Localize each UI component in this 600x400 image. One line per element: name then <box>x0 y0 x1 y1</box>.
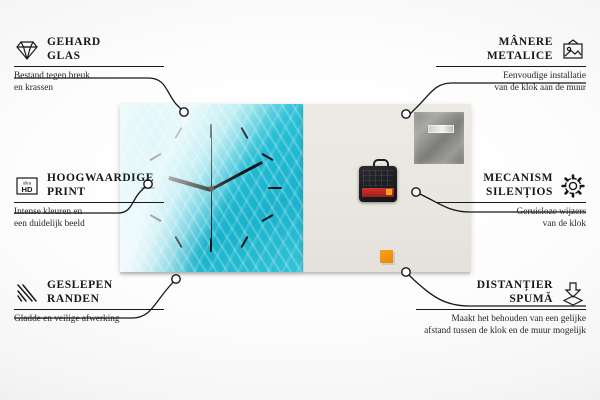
second-hand <box>211 128 212 246</box>
minute-hand <box>210 161 263 191</box>
feature-header: DISTANȚIER SPUMĂ <box>416 279 586 306</box>
feature-gehard-glas: GEHARD GLAS Bestand tegen breuk en krass… <box>14 36 164 94</box>
feature-divider <box>14 66 164 67</box>
feature-header: ultra HD HOOGWAARDIGE PRINT <box>14 172 164 199</box>
feature-mecanism-silentios: MECANISM SILENȚIOS Geruisloze wijzers va… <box>436 172 586 230</box>
feature-description: Intense kleuren en een duidelijk beeld <box>14 206 164 230</box>
feature-divider <box>14 309 164 310</box>
tick-2 <box>261 153 273 161</box>
tick-7 <box>174 236 182 248</box>
feature-distantier-spuma: DISTANȚIER SPUMĂ Maakt het behouden van … <box>416 279 586 337</box>
tick-1 <box>240 127 248 139</box>
feature-hoogwaardige-print: ultra HD HOOGWAARDIGE PRINT Intense kleu… <box>14 172 164 230</box>
feature-header: GEHARD GLAS <box>14 36 164 63</box>
feature-header: GESLEPEN RANDEN <box>14 279 164 306</box>
product-image <box>120 104 470 276</box>
spacer-down-arrow-icon <box>560 280 586 306</box>
feature-title: HOOGWAARDIGE PRINT <box>47 172 154 199</box>
feature-description: Gladde en veilige afwerking <box>14 313 164 325</box>
bracket-slot <box>428 125 454 133</box>
feature-description: Bestand tegen breuk en krassen <box>14 70 164 94</box>
hand-center-pin <box>209 186 214 191</box>
feature-title: DISTANȚIER SPUMĂ <box>416 279 553 306</box>
feature-manere-metalice: MÂNERE METALICE Eenvoudige installatie v… <box>436 36 586 94</box>
gear-icon <box>560 173 586 199</box>
mechanism-texture <box>363 170 393 186</box>
feature-title: MÂNERE METALICE <box>436 36 553 63</box>
beveled-edges-icon <box>14 280 40 306</box>
feature-header: MECANISM SILENȚIOS <box>436 172 586 199</box>
product-shadow <box>120 272 470 276</box>
feature-description: Eenvoudige installatie van de klok aan d… <box>436 70 586 94</box>
feature-divider <box>436 66 586 67</box>
feature-title: MECANISM SILENȚIOS <box>436 172 553 199</box>
feature-divider <box>416 309 586 310</box>
feature-title: GESLEPEN RANDEN <box>47 279 113 306</box>
tick-10 <box>149 153 161 161</box>
feature-description: Maakt het behouden van een gelijke afsta… <box>416 313 586 337</box>
quartz-mechanism-box <box>359 166 397 202</box>
feature-divider <box>436 202 586 203</box>
tick-5 <box>240 236 248 248</box>
battery-plus-terminal <box>386 189 392 195</box>
ultra-hd-icon: ultra HD <box>14 173 40 199</box>
tick-3 <box>268 187 282 189</box>
feature-header: MÂNERE METALICE <box>436 36 586 63</box>
battery-red <box>362 188 394 197</box>
feature-description: Geruisloze wijzers van de klok <box>436 206 586 230</box>
tick-11 <box>174 127 182 139</box>
foam-spacer-orange <box>380 250 393 263</box>
tick-4 <box>261 214 273 222</box>
diamond-icon <box>14 37 40 63</box>
feature-title: GEHARD GLAS <box>47 36 101 63</box>
infographic-canvas: GEHARD GLAS Bestand tegen breuk en krass… <box>0 0 600 400</box>
feature-divider <box>14 202 164 203</box>
picture-hanger-icon <box>560 37 586 63</box>
tick-6 <box>210 238 212 252</box>
tick-12 <box>210 124 212 138</box>
metal-hanger-bracket <box>414 112 464 164</box>
svg-text:HD: HD <box>22 184 33 193</box>
hour-hand <box>168 176 211 192</box>
feature-geslepen-randen: GESLEPEN RANDEN Gladde en veilige afwerk… <box>14 279 164 325</box>
connector-dot-randen <box>172 275 180 283</box>
